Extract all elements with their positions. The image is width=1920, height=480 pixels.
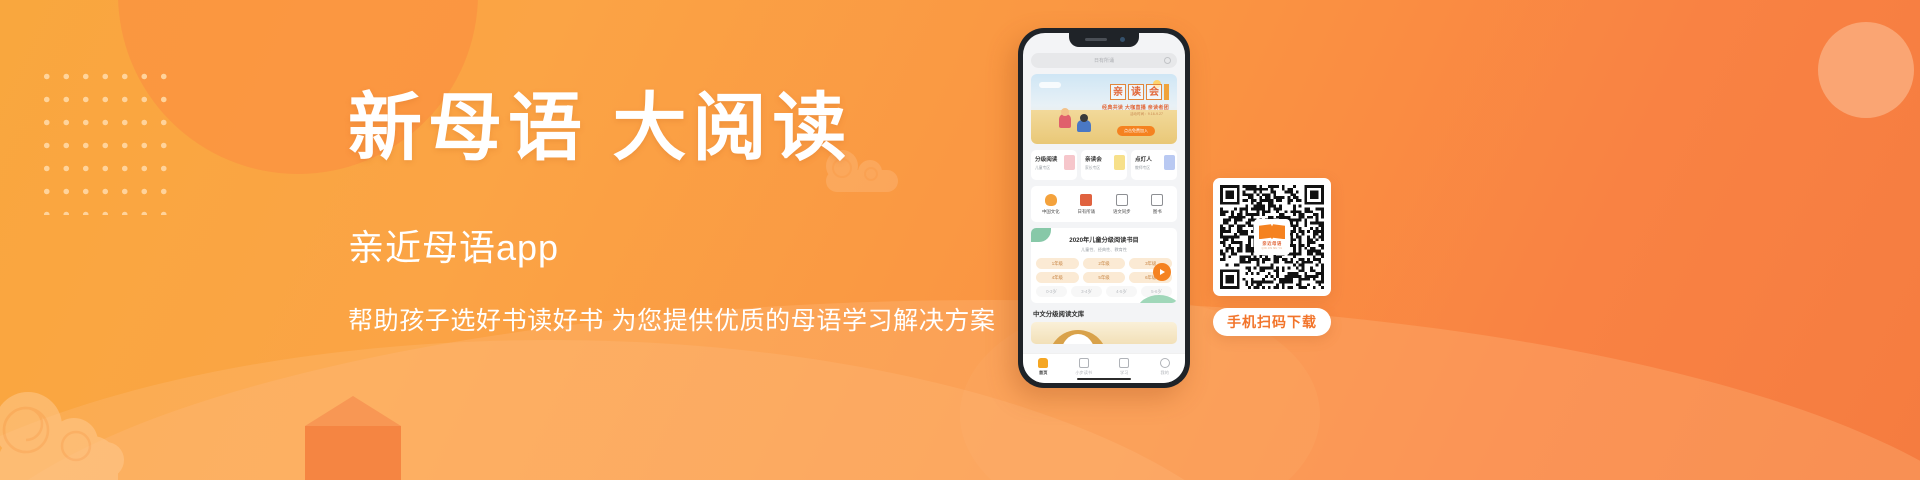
banner-tagline: 帮助孩子选好书读好书 为您提供优质的母语学习解决方案 — [348, 301, 1008, 337]
hero-title-band — [1164, 84, 1169, 100]
tab-label: 我的 — [1148, 370, 1182, 376]
camera-icon — [1120, 37, 1125, 42]
tab-label: 学习 — [1107, 370, 1141, 376]
download-button[interactable]: 手机扫码下载 — [1213, 308, 1331, 336]
phone-mockup: 日有所诵 亲 读 会 经 — [1018, 28, 1190, 388]
grade-chip[interactable]: 5年级 — [1083, 272, 1126, 283]
banner-copy: 新母语 大阅读 亲近母语app 帮助孩子选好书读好书 为您提供优质的母语学习解决… — [348, 88, 1008, 337]
category-thumb-icon — [1064, 155, 1075, 170]
tab-label: 小步读书 — [1067, 370, 1101, 376]
booklist-subtitle: 儿童性、经典性、教育性 — [1036, 247, 1172, 253]
circle-decoration-right — [1818, 22, 1914, 118]
hero-child-illustration-1 — [1059, 114, 1071, 128]
quick-link-item[interactable]: 中国文化 — [1034, 194, 1068, 215]
quick-link-label: 图书 — [1140, 209, 1174, 215]
home-indicator — [1077, 378, 1131, 381]
auspicious-cloud-icon — [0, 376, 158, 480]
quick-link-label: 中国文化 — [1034, 209, 1068, 215]
app-booklist-section: 2020年儿童分级阅读书目 儿童性、经典性、教育性 1年级 2年级 3年级 4年… — [1031, 228, 1177, 303]
library-title: 中文分级阅读文库 — [1031, 309, 1177, 318]
category-thumb-icon — [1164, 155, 1175, 170]
tab-profile[interactable]: 我的 — [1148, 358, 1182, 376]
app-screen-content: 日有所诵 亲 读 会 经 — [1023, 33, 1185, 383]
lantern-icon — [1045, 194, 1057, 206]
app-category-cards: 分级阅读 儿童专区 亲读会 家长专区 点灯人 教师专区 — [1031, 150, 1177, 180]
promo-banner: 新母语 大阅读 亲近母语app 帮助孩子选好书读好书 为您提供优质的母语学习解决… — [0, 0, 1920, 480]
hero-child-head-1 — [1061, 108, 1069, 116]
category-card[interactable]: 分级阅读 儿童专区 — [1031, 150, 1077, 180]
user-icon — [1160, 358, 1170, 368]
grade-row: 1年级 2年级 3年级 — [1036, 258, 1172, 269]
quick-link-label: 日有所诵 — [1069, 209, 1103, 215]
category-thumb-icon — [1114, 155, 1125, 170]
grade-chip[interactable]: 1年级 — [1036, 258, 1079, 269]
hero-title-char: 亲 — [1110, 84, 1126, 100]
hero-child-head-2 — [1080, 114, 1088, 122]
speaker-icon — [1085, 38, 1107, 41]
hero-cta-button[interactable]: 点击免费加入 — [1117, 126, 1155, 136]
hero-subtitle: 经典共读 大咖直播 亲读者团 — [1102, 104, 1169, 111]
phone-notch — [1069, 33, 1139, 47]
age-chip[interactable]: 3-4岁 — [1071, 286, 1102, 297]
app-quick-links: 中国文化 日有所诵 语文同步 图书 — [1031, 186, 1177, 222]
book-logo-icon — [1259, 224, 1285, 239]
grade-chip[interactable]: 2年级 — [1083, 258, 1126, 269]
qr-code-card: 亲近母语 QIN JIN MU YU — [1213, 178, 1331, 296]
age-chip[interactable]: 0-3岁 — [1036, 286, 1067, 297]
phone-screen: 日有所诵 亲 读 会 经 — [1023, 33, 1185, 383]
hero-title: 亲 读 会 — [1110, 84, 1169, 100]
home-icon — [1038, 358, 1048, 368]
banner-subline: 亲近母语app — [348, 219, 1008, 271]
quick-link-item[interactable]: 日有所诵 — [1069, 194, 1103, 215]
sync-icon — [1116, 194, 1128, 206]
search-more-icon[interactable] — [1164, 57, 1171, 64]
tab-reading[interactable]: 小步读书 — [1067, 358, 1101, 376]
hero-cloud-icon — [1039, 82, 1061, 88]
booklist-filters: 1年级 2年级 3年级 4年级 5年级 6年级 0-3岁 3-4岁 4- — [1036, 258, 1172, 297]
booklist-title: 2020年儿童分级阅读书目 — [1036, 235, 1172, 244]
book-stack-icon — [1080, 194, 1092, 206]
dot-grid-decoration — [37, 65, 177, 215]
qr-code: 亲近母语 QIN JIN MU YU — [1220, 185, 1324, 289]
qr-logo-en: QIN JIN MU YU — [1262, 247, 1283, 250]
checklist-icon — [1119, 358, 1129, 368]
hero-title-char: 读 — [1128, 84, 1144, 100]
quick-link-label: 语文同步 — [1105, 209, 1139, 215]
app-search-input[interactable]: 日有所诵 — [1031, 53, 1177, 68]
tab-study[interactable]: 学习 — [1107, 358, 1141, 376]
grade-row: 4年级 5年级 6年级 — [1036, 272, 1172, 283]
grade-chip[interactable]: 4年级 — [1036, 272, 1079, 283]
tab-label: 首页 — [1026, 370, 1060, 376]
library-card[interactable] — [1031, 322, 1177, 344]
play-icon — [1160, 269, 1165, 275]
cube-decoration-top — [305, 396, 401, 426]
hero-detail: 活动时间：9.16-9.27 — [1130, 112, 1163, 117]
book-icon — [1151, 194, 1163, 206]
quick-link-item[interactable]: 图书 — [1140, 194, 1174, 215]
banner-headline: 新母语 大阅读 — [348, 88, 1008, 171]
note-icon — [1079, 358, 1089, 368]
age-chip[interactable]: 4-5岁 — [1106, 286, 1137, 297]
qr-download-block: 亲近母语 QIN JIN MU YU 手机扫码下载 — [1213, 178, 1331, 336]
app-hero-banner[interactable]: 亲 读 会 经典共读 大咖直播 亲读者团 活动时间：9.16-9.27 点击免费… — [1031, 74, 1177, 144]
category-card[interactable]: 点灯人 教师专区 — [1131, 150, 1177, 180]
app-search-placeholder: 日有所诵 — [1094, 57, 1114, 64]
category-card[interactable]: 亲读会 家长专区 — [1081, 150, 1127, 180]
tab-home[interactable]: 首页 — [1026, 358, 1060, 376]
cube-decoration — [305, 426, 401, 480]
play-video-button[interactable] — [1153, 263, 1171, 281]
hero-title-char: 会 — [1146, 84, 1162, 100]
qr-center-logo: 亲近母语 QIN JIN MU YU — [1254, 219, 1290, 255]
quick-link-item[interactable]: 语文同步 — [1105, 194, 1139, 215]
